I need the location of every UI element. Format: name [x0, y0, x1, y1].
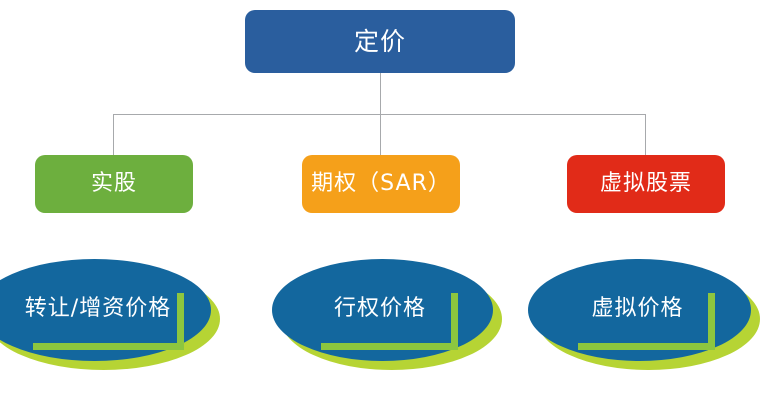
node-virtual-price-label: 虚拟价格 — [567, 298, 708, 320]
node-exercise-price-label: 行权价格 — [310, 298, 450, 320]
node-real-stock-label: 实股 — [91, 173, 137, 195]
bracket-vertical-transfer-price — [177, 293, 184, 350]
node-pricing-root-label: 定价 — [354, 29, 406, 54]
node-virtual-stock-label: 虚拟股票 — [600, 173, 692, 195]
node-option-sar-label: 期权（SAR） — [311, 173, 451, 195]
bracket-horizontal-transfer-price — [33, 343, 184, 350]
bracket-vertical-exercise-price — [451, 293, 458, 350]
node-virtual-price[interactable]: 虚拟价格 — [528, 259, 760, 361]
connector-drop-option-sar — [380, 114, 381, 155]
node-transfer-price-label: 转让/增资价格 — [18, 298, 178, 320]
bracket-horizontal-virtual-price — [578, 343, 715, 350]
node-pricing-root[interactable]: 定价 — [245, 10, 515, 73]
node-real-stock[interactable]: 实股 — [35, 155, 193, 213]
node-exercise-price[interactable]: 行权价格 — [272, 259, 502, 361]
connector-drop-real-stock — [113, 114, 114, 155]
connector-root-stem — [380, 73, 381, 115]
node-virtual-stock[interactable]: 虚拟股票 — [567, 155, 725, 213]
bracket-horizontal-exercise-price — [321, 343, 458, 350]
node-transfer-price[interactable]: 转让/增资价格 — [0, 259, 220, 361]
connector-drop-virtual-stock — [645, 114, 646, 155]
pricing-structure-diagram: 定价 实股 期权（SAR） 虚拟股票 转让/增资价格 行权价格 虚拟价格 — [0, 0, 763, 400]
bracket-vertical-virtual-price — [708, 293, 715, 350]
node-option-sar[interactable]: 期权（SAR） — [302, 155, 460, 213]
